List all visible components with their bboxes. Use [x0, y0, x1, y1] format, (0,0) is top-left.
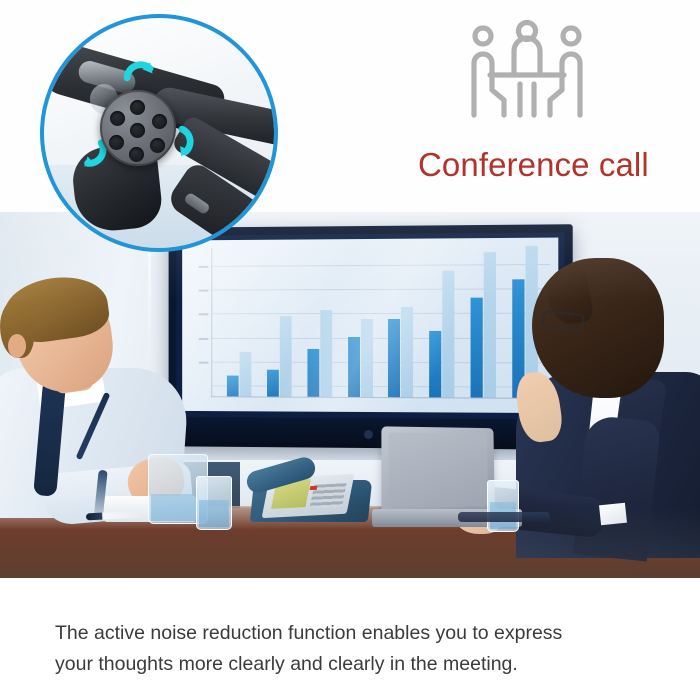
inset-ring	[40, 14, 278, 252]
drinking-glass-right	[487, 480, 519, 532]
desk-phone	[252, 460, 370, 522]
caption-line-2: your thoughts more clearly and clearly i…	[55, 649, 655, 680]
conference-people-icon	[462, 18, 592, 130]
caption-area: The active noise reduction function enab…	[0, 578, 700, 700]
mousepad	[458, 512, 550, 522]
product-feature-card: Conference call	[0, 0, 700, 700]
paper-sheet	[599, 503, 627, 526]
product-closeup-circle	[40, 14, 278, 252]
drinking-glass-left	[196, 476, 232, 530]
caption-line-1: The active noise reduction function enab…	[55, 622, 562, 644]
page-title: Conference call	[418, 142, 680, 188]
caption-text: The active noise reduction function enab…	[55, 618, 655, 680]
conference-room-photo	[0, 212, 700, 578]
